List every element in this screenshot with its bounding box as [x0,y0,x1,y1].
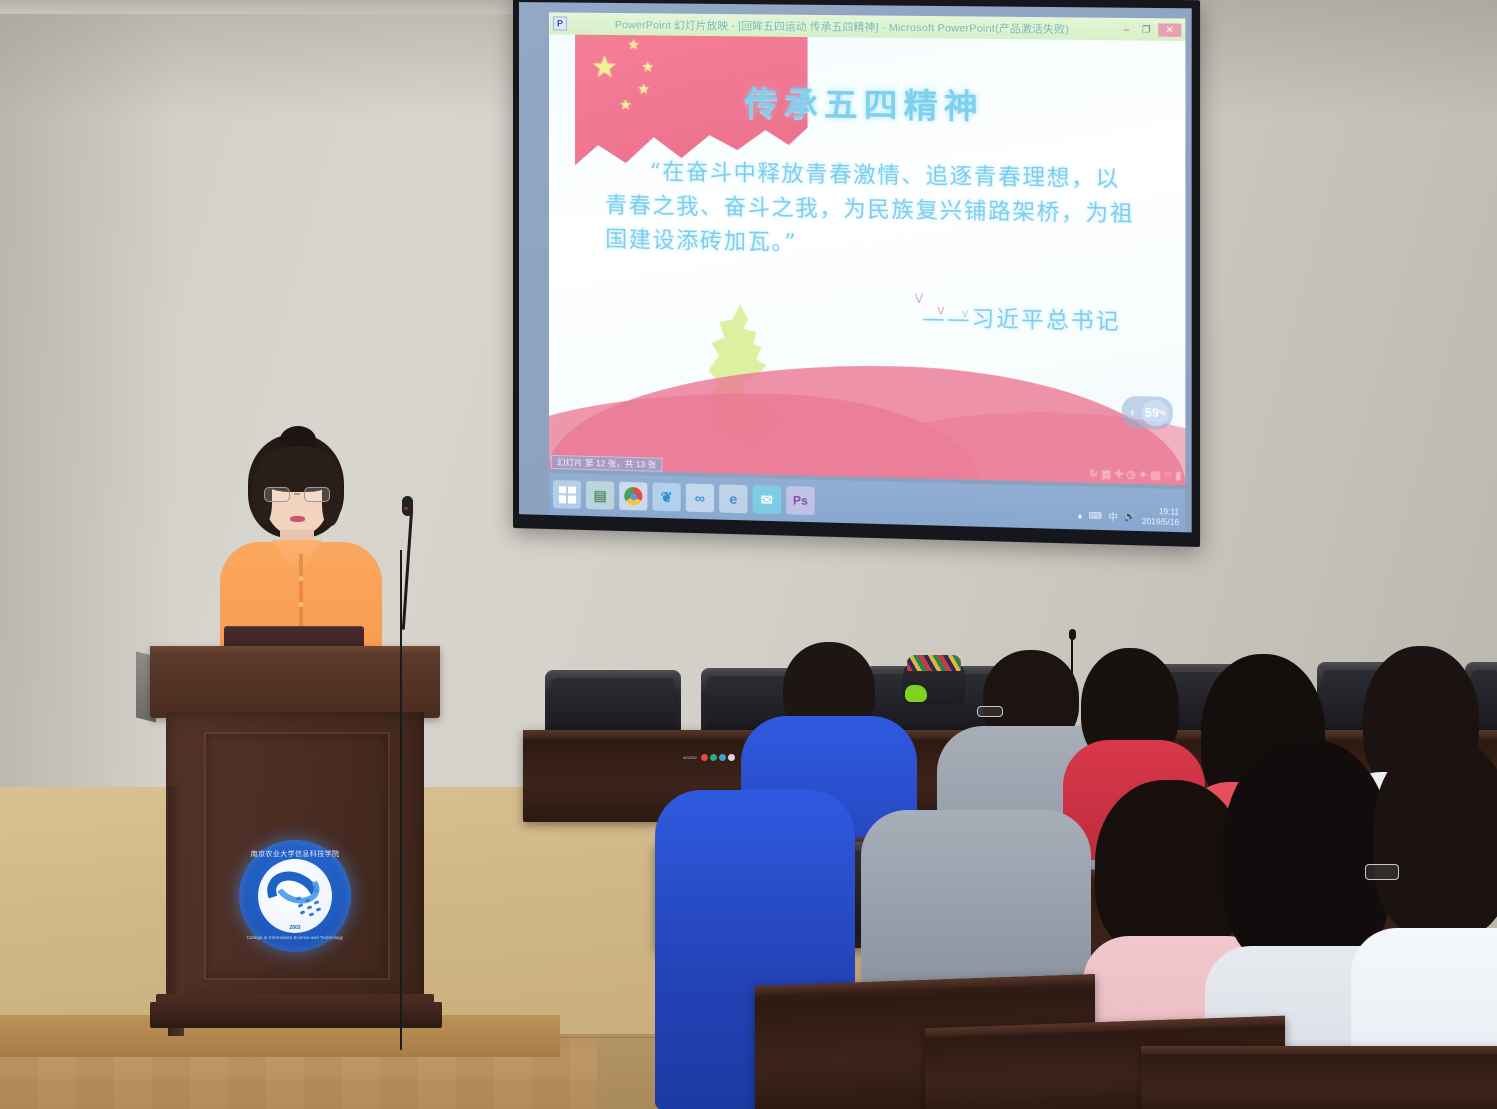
powerpoint-icon: P [553,16,567,30]
windows-logo-icon [559,486,576,503]
bird-flock-icon: ᐯ ᐯ ᐯ [915,292,923,306]
emblem-year: 2003 [258,925,332,931]
oneplus-ring-icon[interactable]: ∞ [686,483,714,512]
tray-volume-icon[interactable]: 🔊 [1124,511,1136,523]
ceiling-edge [0,0,560,14]
taskbar-clock[interactable]: 19:11 2019/5/16 [1142,507,1179,528]
close-button[interactable]: ✕ [1158,23,1181,37]
system-tray[interactable]: ▴ ⌨ 中 🔊 19:11 2019/5/16 [1078,505,1179,528]
lectern: 南京农业大学信息科技学院 College of Information Scie… [150,646,440,1026]
emblem-english-name: College of Information Science and Techn… [239,935,351,940]
wechat-icon[interactable]: ❦ [652,483,680,512]
screen-frame: P PowerPoint 幻灯片放映 - [回眸五四运动 传承五四精神] - M… [513,0,1200,547]
tray-keyboard-icon[interactable]: ⌨ [1089,510,1103,522]
desk-foreground-right [1141,1046,1497,1109]
presenter-glasses [264,486,330,502]
power-outlet-back-left[interactable]: AC220V [683,754,735,761]
internet-explorer-icon[interactable]: e [719,484,747,513]
slide-illustration: ᐯ ᐯ ᐯ [549,269,1185,486]
battery-wifi-overlay: ◐ 59% [1121,396,1172,430]
slide-title: 传承五四精神 [549,74,1185,131]
wifi-icon: ◐ [1130,405,1138,419]
chrome-circle [624,487,642,506]
tray-glyph-4[interactable]: ✦ [1139,470,1148,481]
tray-glyph-5[interactable]: ▤ [1151,470,1161,481]
ps-glyph: Ps [793,493,808,508]
lecture-hall-scene: P PowerPoint 幻灯片放映 - [回眸五四运动 传承五四精神] - M… [0,0,1497,1109]
audience-seating: AC220V AC220V FORWARD [505,620,1497,1109]
slide-canvas[interactable]: ★ ★ ★ ★ ★ 传承五四精神 “在奋斗中释放青春激情、追逐青春理想，以青春之… [549,34,1185,485]
tray-chevron-icon[interactable]: ▴ [1078,509,1083,520]
desk-surface-fg-right [1141,1046,1497,1055]
clock-date: 2019/5/16 [1142,517,1179,528]
powerpoint-window[interactable]: P PowerPoint 幻灯片放映 - [回眸五四运动 传承五四精神] - M… [549,12,1185,485]
flag-star-1: ★ [627,37,640,51]
tray-glyph-0[interactable]: ↻ [1089,468,1098,479]
presenter-lips [290,516,305,522]
tray-glyph-1[interactable]: 算 [1101,467,1111,483]
emblem-dots [296,897,324,919]
university-emblem-icon: 南京农业大学信息科技学院 College of Information Scie… [239,840,351,952]
lectern-base [156,994,434,1028]
restore-button[interactable]: ❐ [1138,23,1154,36]
podium-microphone-head [402,496,413,516]
flag-star-2: ★ [641,59,654,73]
minimize-button[interactable]: – [1119,22,1135,35]
chrome-icon[interactable] [619,482,647,511]
tray-glyph-6[interactable]: ⁙ [1164,470,1173,481]
tray-glyph-7[interactable]: ▮ [1175,471,1181,482]
photoshop-icon[interactable]: Ps [786,486,815,515]
slide-quote-text: “在奋斗中释放青春激情、追逐青春理想，以青春之我、奋斗之我，为民族复兴铺路架桥，… [605,155,1135,267]
lectern-top [150,646,440,718]
wechat-glyph: ❦ [661,488,673,505]
projection-screen: P PowerPoint 幻灯片放映 - [回眸五四运动 传承五四精神] - M… [513,0,1185,528]
lectern-body: 南京农业大学信息科技学院 College of Information Scie… [166,712,424,1002]
podium-area: Lenovo 南京农业大学信息科技学院 College of Informati… [150,430,470,1030]
tray-glyph-2[interactable]: ✛ [1115,469,1124,480]
presenter-button-2 [299,602,304,607]
battery-percent: 59 [1145,405,1159,420]
ring-glyph: ∞ [695,490,705,506]
battery-indicator: 59% [1142,399,1169,426]
percent-sign: % [1159,409,1166,416]
file-explorer-glyph: ▤ [593,487,606,504]
screen-surface: P PowerPoint 幻灯片放映 - [回眸五四运动 传承五四精神] - M… [519,2,1192,532]
foxmail-icon[interactable]: ✉ [753,485,781,514]
presenter-button-1 [299,576,304,581]
tray-glyph-3[interactable]: ◷ [1126,469,1135,480]
glasses-icon [977,706,1003,717]
window-title: PowerPoint 幻灯片放映 - [回眸五四运动 传承五四精神] - Mic… [567,16,1119,37]
window-controls[interactable]: – ❐ ✕ [1119,22,1184,36]
outlet-label: AC220V [683,755,697,760]
emblem-inner-disc: 2003 [258,859,332,933]
glasses-icon [1365,864,1399,880]
ie-glyph: e [729,491,737,507]
tray-ime-icon[interactable]: 中 [1108,509,1117,523]
file-explorer-icon[interactable]: ▤ [586,481,614,510]
slideshow-tray-icons[interactable]: ↻ 算 ✛ ◷ ✦ ▤ ⁙ ▮ [1089,466,1181,484]
head-hair [1373,738,1497,938]
foxmail-glyph: ✉ [761,491,773,508]
slide-counter-status: 幻灯片 第 12 张，共 13 张 [551,455,662,472]
emblem-chinese-name: 南京农业大学信息科技学院 [239,849,351,859]
start-button-icon[interactable] [553,480,581,509]
